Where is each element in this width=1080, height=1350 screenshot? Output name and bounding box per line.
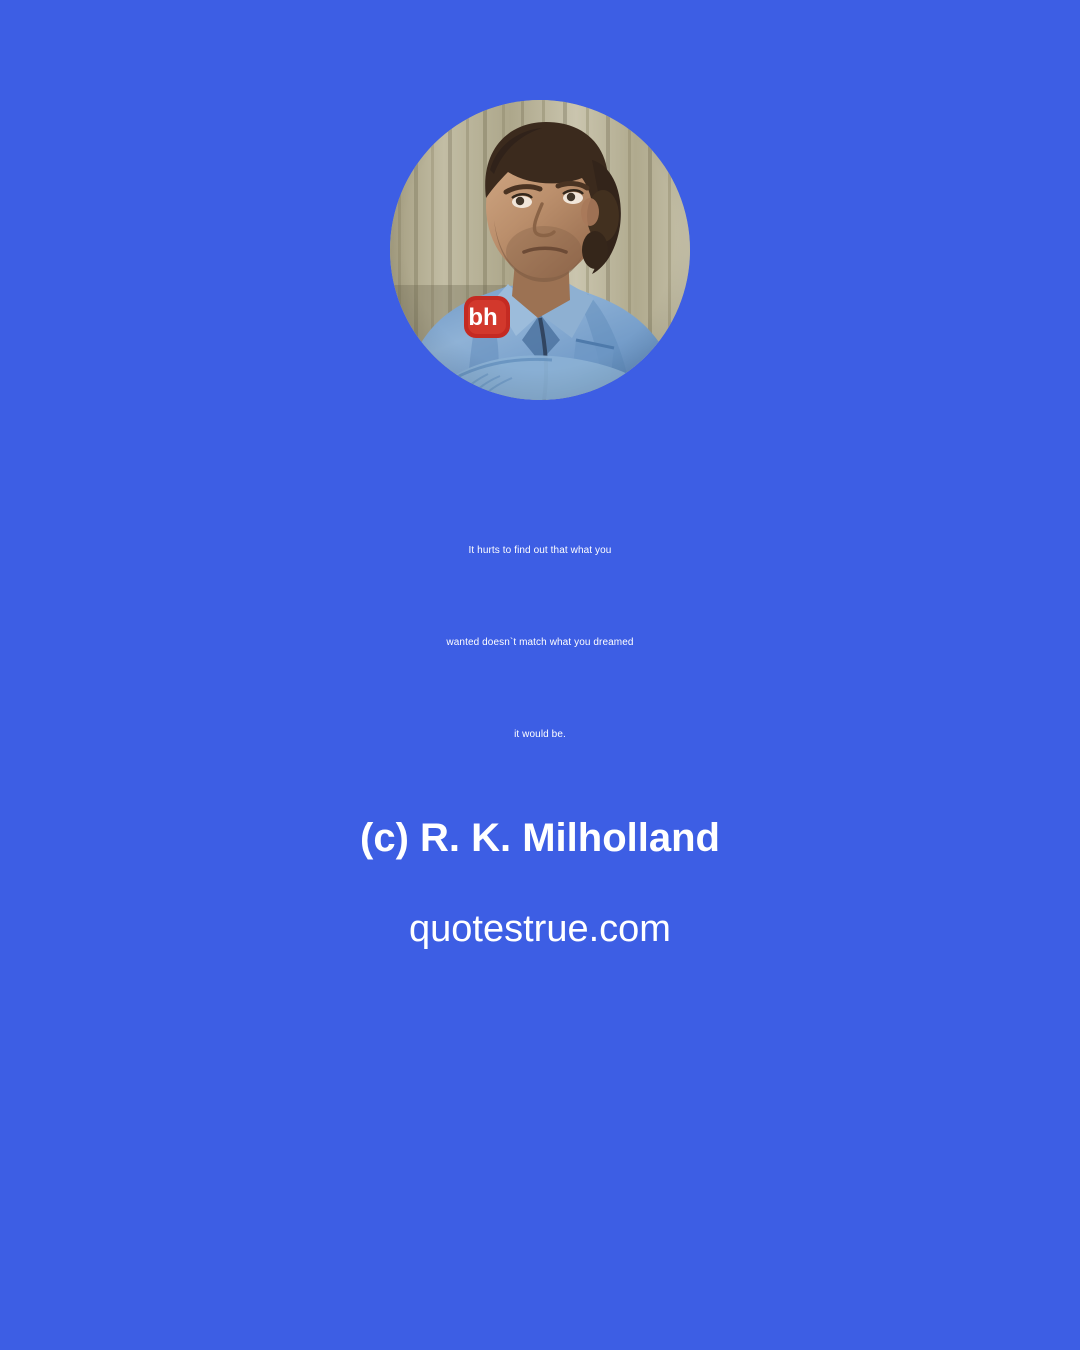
quote-line-1: It hurts to find out that what you [0, 505, 1080, 597]
website-credit: quotestrue.com [0, 903, 1080, 955]
avatar: bh [390, 100, 690, 400]
quote-card: bh It hurts to find out that what you wa… [0, 0, 1080, 1350]
quote-text: It hurts to find out that what you wante… [0, 505, 1080, 781]
portrait-illustration: bh [390, 100, 690, 400]
quote-line-3: it would be. [0, 689, 1080, 781]
portrait-image: bh [390, 100, 690, 400]
quote-attribution: (c) R. K. Milholland [0, 812, 1080, 864]
quote-line-2: wanted doesn`t match what you dreamed [0, 597, 1080, 689]
